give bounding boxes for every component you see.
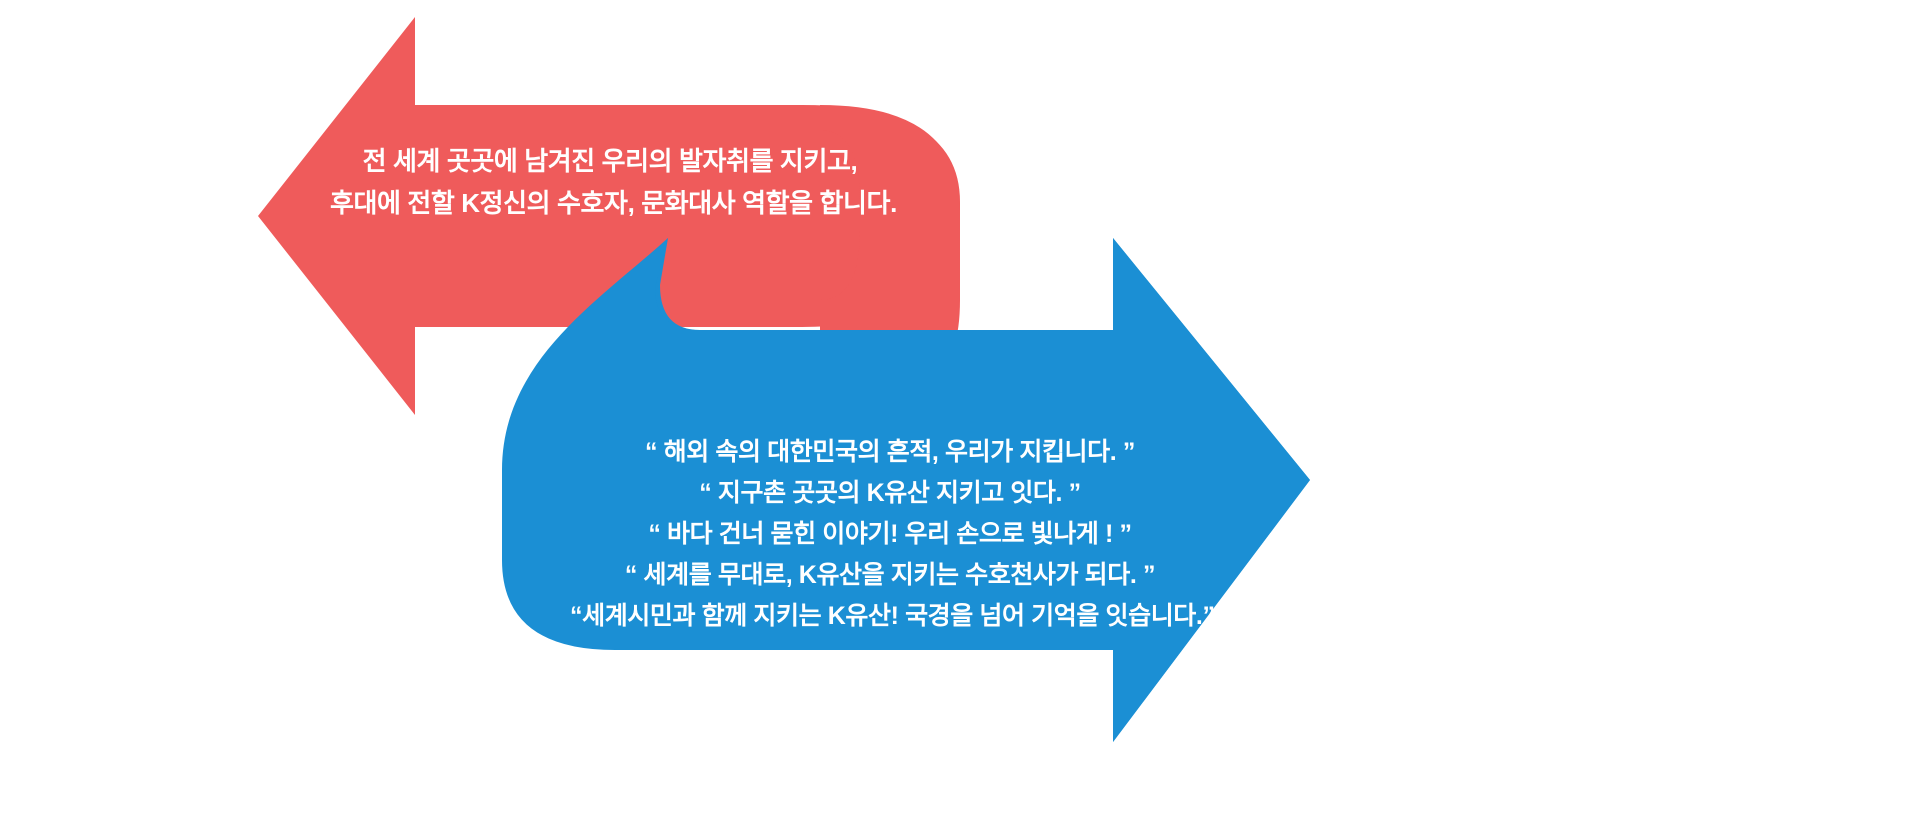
two-arrow-diagram xyxy=(0,0,1920,818)
infographic-canvas: 전 세계 곳곳에 남겨진 우리의 발자취를 지키고, 후대에 전할 K정신의 수… xyxy=(0,0,1920,818)
